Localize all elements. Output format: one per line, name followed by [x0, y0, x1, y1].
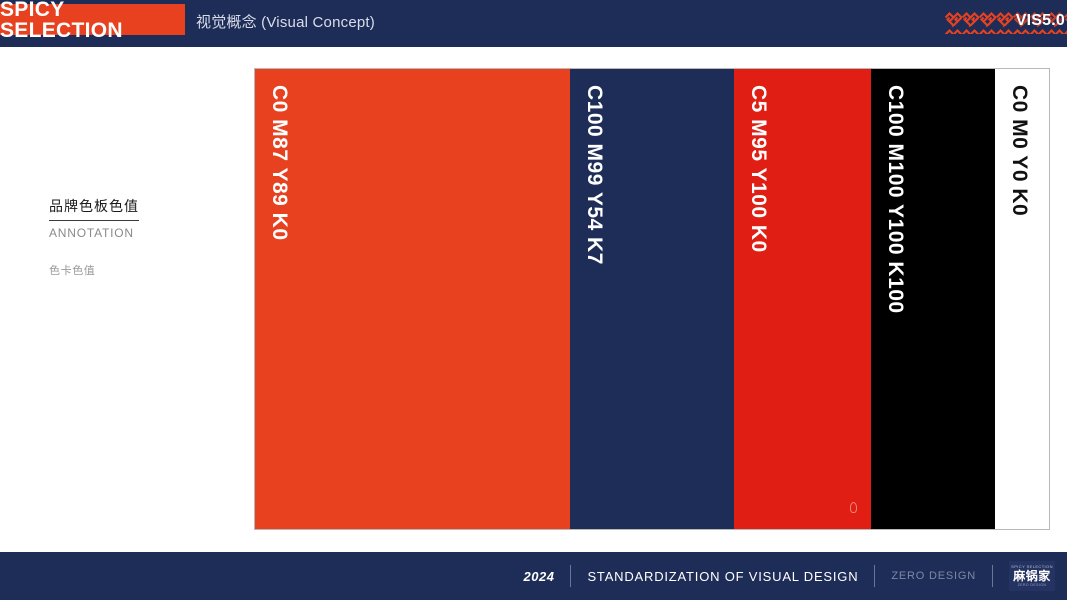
color-swatch-label: C0 M87 Y89 K0	[269, 85, 290, 241]
swatch-marker-icon	[850, 502, 857, 513]
footer-main-text: STANDARDIZATION OF VISUAL DESIGN	[587, 569, 858, 584]
annotation-title: 品牌色板色值	[49, 196, 139, 221]
footer-logo-mark: 麻锅家	[1013, 570, 1051, 583]
footer-logo-bottom: ZERO DESIGN	[1018, 583, 1047, 587]
header-bar: SPICY SELECTION 视觉概念 (Visual Concept)	[0, 0, 1067, 47]
color-swatch-label: C100 M99 Y54 K7	[584, 85, 605, 265]
footer-studio-text: ZERO DESIGN	[891, 570, 976, 582]
footer-bar: 2024 STANDARDIZATION OF VISUAL DESIGN ZE…	[0, 552, 1067, 600]
footer-year: 2024	[524, 569, 555, 584]
brand-badge: SPICY SELECTION	[0, 4, 185, 35]
annotation-note: 色卡色值	[49, 262, 219, 278]
color-swatch-label: C100 M100 Y100 K100	[885, 85, 906, 314]
color-swatch: C0 M0 Y0 K0	[995, 69, 1049, 529]
color-swatch: C0 M87 Y89 K0	[255, 69, 570, 529]
color-swatch: C100 M100 Y100 K100	[871, 69, 995, 529]
color-swatch-label: C5 M95 Y100 K0	[748, 85, 769, 253]
color-swatch-label: C0 M0 Y0 K0	[1009, 85, 1030, 216]
color-palette-block: C0 M87 Y89 K0C100 M99 Y54 K7C5 M95 Y100 …	[254, 68, 1050, 530]
footer-divider	[874, 565, 875, 587]
header-subtitle: 视觉概念 (Visual Concept)	[196, 11, 375, 32]
footer-divider	[570, 565, 571, 587]
annotation-panel: 品牌色板色值 ANNOTATION 色卡色值	[49, 196, 219, 278]
vis-version-label: VIS5.0	[1016, 13, 1065, 29]
color-swatch: C100 M99 Y54 K7	[570, 69, 734, 529]
brand-title: SPICY SELECTION	[0, 0, 185, 41]
color-swatch: C5 M95 Y100 K0	[734, 69, 871, 529]
footer-content: 2024 STANDARDIZATION OF VISUAL DESIGN ZE…	[524, 563, 1067, 589]
header-right-group: VIS5.0	[945, 8, 1067, 36]
annotation-subtitle: ANNOTATION	[49, 226, 219, 240]
slide-canvas: SPICY SELECTION 视觉概念 (Visual Concept)	[0, 0, 1067, 600]
footer-logo: SPICY SELECTION 麻锅家 ZERO DESIGN	[1009, 561, 1055, 591]
footer-divider	[992, 565, 993, 587]
